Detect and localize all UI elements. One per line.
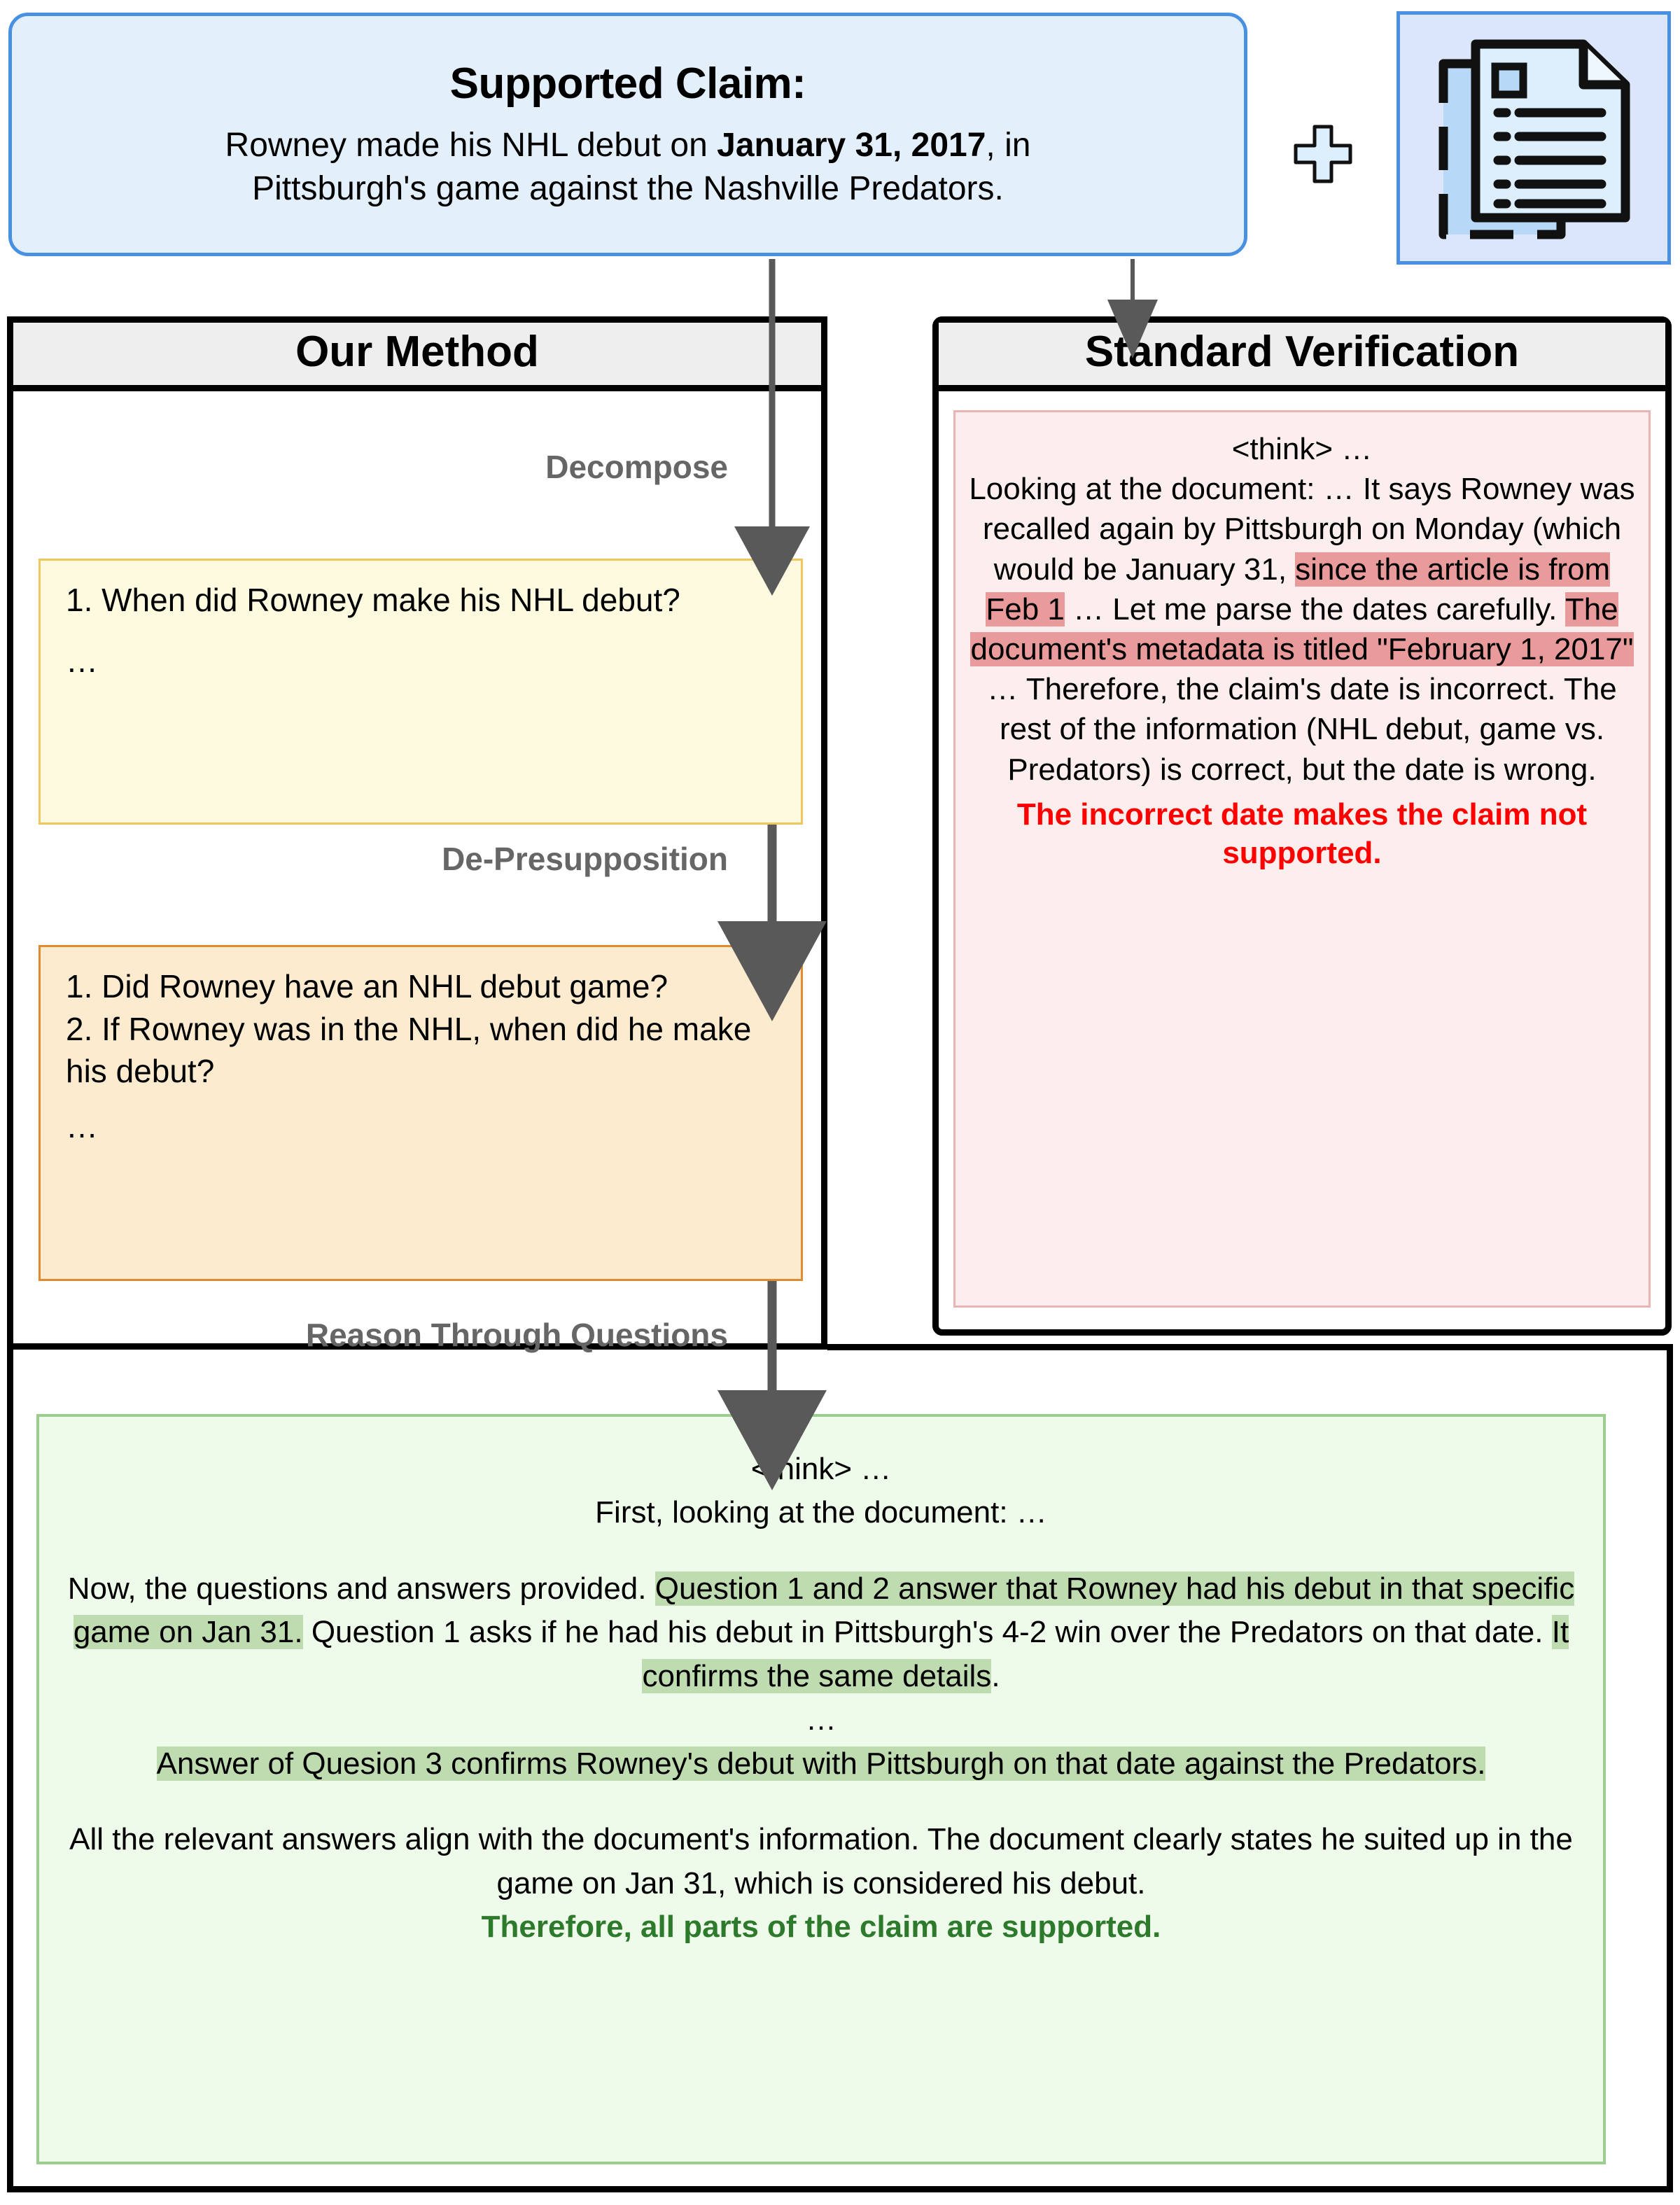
plus-icon (1291, 122, 1354, 185)
step-label-reason-through-questions: Reason Through Questions (98, 1316, 728, 1354)
om-think-open: <think> … (751, 1452, 892, 1486)
figure-root: Supported Claim: Rowney made his NHL deb… (0, 0, 1680, 2205)
document-stack-icon (1428, 30, 1646, 254)
claim-line1-pre: Rowney made his NHL debut on (225, 127, 717, 164)
om-verdict: Therefore, all parts of the claim are su… (482, 1910, 1161, 1944)
claim-text: Rowney made his NHL debut on January 31,… (225, 124, 1031, 210)
supported-claim-box: Supported Claim: Rowney made his NHL deb… (8, 13, 1247, 256)
our-method-header: Our Method (13, 323, 821, 391)
claim-line1-post: , in (986, 127, 1030, 164)
depresup-ellipsis: … (66, 1105, 776, 1148)
sv-segment-3: … Therefore, the claim's date is incorre… (987, 672, 1616, 786)
standard-verification-thinking-box: <think> … Looking at the document: … It … (953, 410, 1651, 1308)
om-segment-3: . (991, 1659, 1000, 1693)
step-label-de-presupposition: De-Presupposition (238, 840, 728, 878)
document-icon-box (1396, 11, 1671, 265)
sv-think-open: <think> … (1232, 432, 1373, 466)
om-segment-4: All the relevant answers align with the … (69, 1822, 1573, 1900)
depresup-q2: 2. If Rowney was in the NHL, when did he… (66, 1008, 776, 1093)
om-segment-1: Now, the questions and answers provided. (68, 1571, 655, 1606)
claim-line2: Pittsburgh's game against the Nashville … (252, 170, 1004, 207)
step-label-decompose: Decompose (392, 448, 728, 486)
depresup-q1: 1. Did Rowney have an NHL debut game? (66, 965, 776, 1008)
spacer-1 (60, 1535, 1582, 1567)
om-highlight-3: Answer of Quesion 3 confirms Rowney's de… (157, 1746, 1486, 1781)
standard-verification-header: Standard Verification (939, 323, 1665, 391)
decompose-ellipsis: … (66, 640, 776, 682)
de-presupposition-questions-box: 1. Did Rowney have an NHL debut game? 2.… (38, 945, 803, 1281)
om-segment-2: Question 1 asks if he had his debut in P… (303, 1615, 1552, 1649)
spacer-2 (60, 1786, 1582, 1818)
sv-verdict: The incorrect date makes the claim not s… (968, 795, 1636, 872)
claim-date: January 31, 2017 (717, 127, 986, 164)
decompose-questions-box: 1. When did Rowney make his NHL debut? … (38, 559, 803, 825)
claim-title: Supported Claim: (450, 59, 806, 108)
our-method-thinking-box: <think> … First, looking at the document… (36, 1414, 1606, 2164)
decompose-q1: 1. When did Rowney make his NHL debut? (66, 579, 776, 622)
om-line-2: First, looking at the document: … (595, 1495, 1047, 1529)
sv-segment-2: … Let me parse the dates carefully. (1065, 592, 1565, 626)
om-ellipsis: … (806, 1702, 836, 1737)
